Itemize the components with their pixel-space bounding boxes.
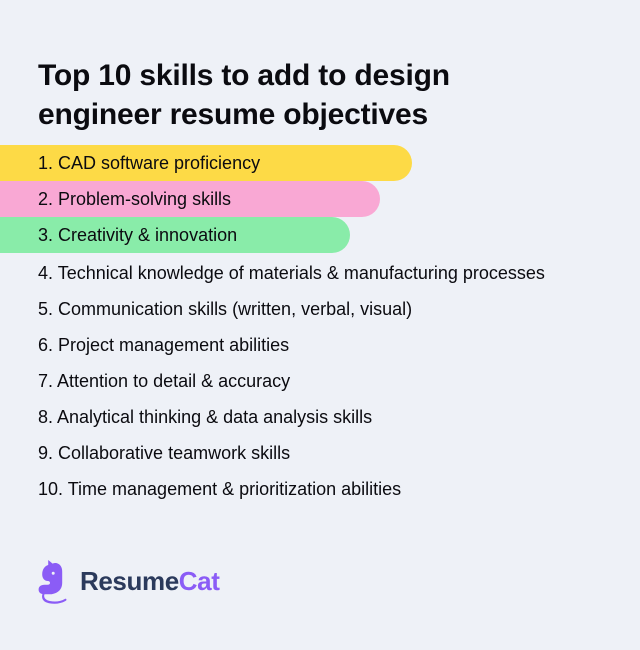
resumecat-logo[interactable]: ResumeCat [36,558,219,604]
page-title: Top 10 skills to add to design engineer … [38,56,558,134]
highlighted-skills-list: 1. CAD software proficiency 2. Problem-s… [0,145,640,253]
list-item: 9. Collaborative teamwork skills [38,438,548,468]
highlight-item-label: 2. Problem-solving skills [38,188,231,210]
plain-skills-list: 4. Technical knowledge of materials & ma… [38,258,548,504]
list-item: 7. Attention to detail & accuracy [38,366,548,396]
highlight-item-label: 1. CAD software proficiency [38,152,260,174]
list-item: 2. Problem-solving skills [0,181,640,217]
logo-wordmark: ResumeCat [80,568,219,594]
list-item: 8. Analytical thinking & data analysis s… [38,402,548,432]
list-item: 4. Technical knowledge of materials & ma… [38,258,548,288]
list-item: 5. Communication skills (written, verbal… [38,294,548,324]
cat-icon [36,558,72,604]
highlight-item-label: 3. Creativity & innovation [38,224,237,246]
list-item: 3. Creativity & innovation [0,217,640,253]
logo-word-resume: Resume [80,566,179,596]
list-item: 6. Project management abilities [38,330,548,360]
list-item: 1. CAD software proficiency [0,145,640,181]
list-item: 10. Time management & prioritization abi… [38,474,548,504]
logo-word-cat: Cat [179,566,220,596]
